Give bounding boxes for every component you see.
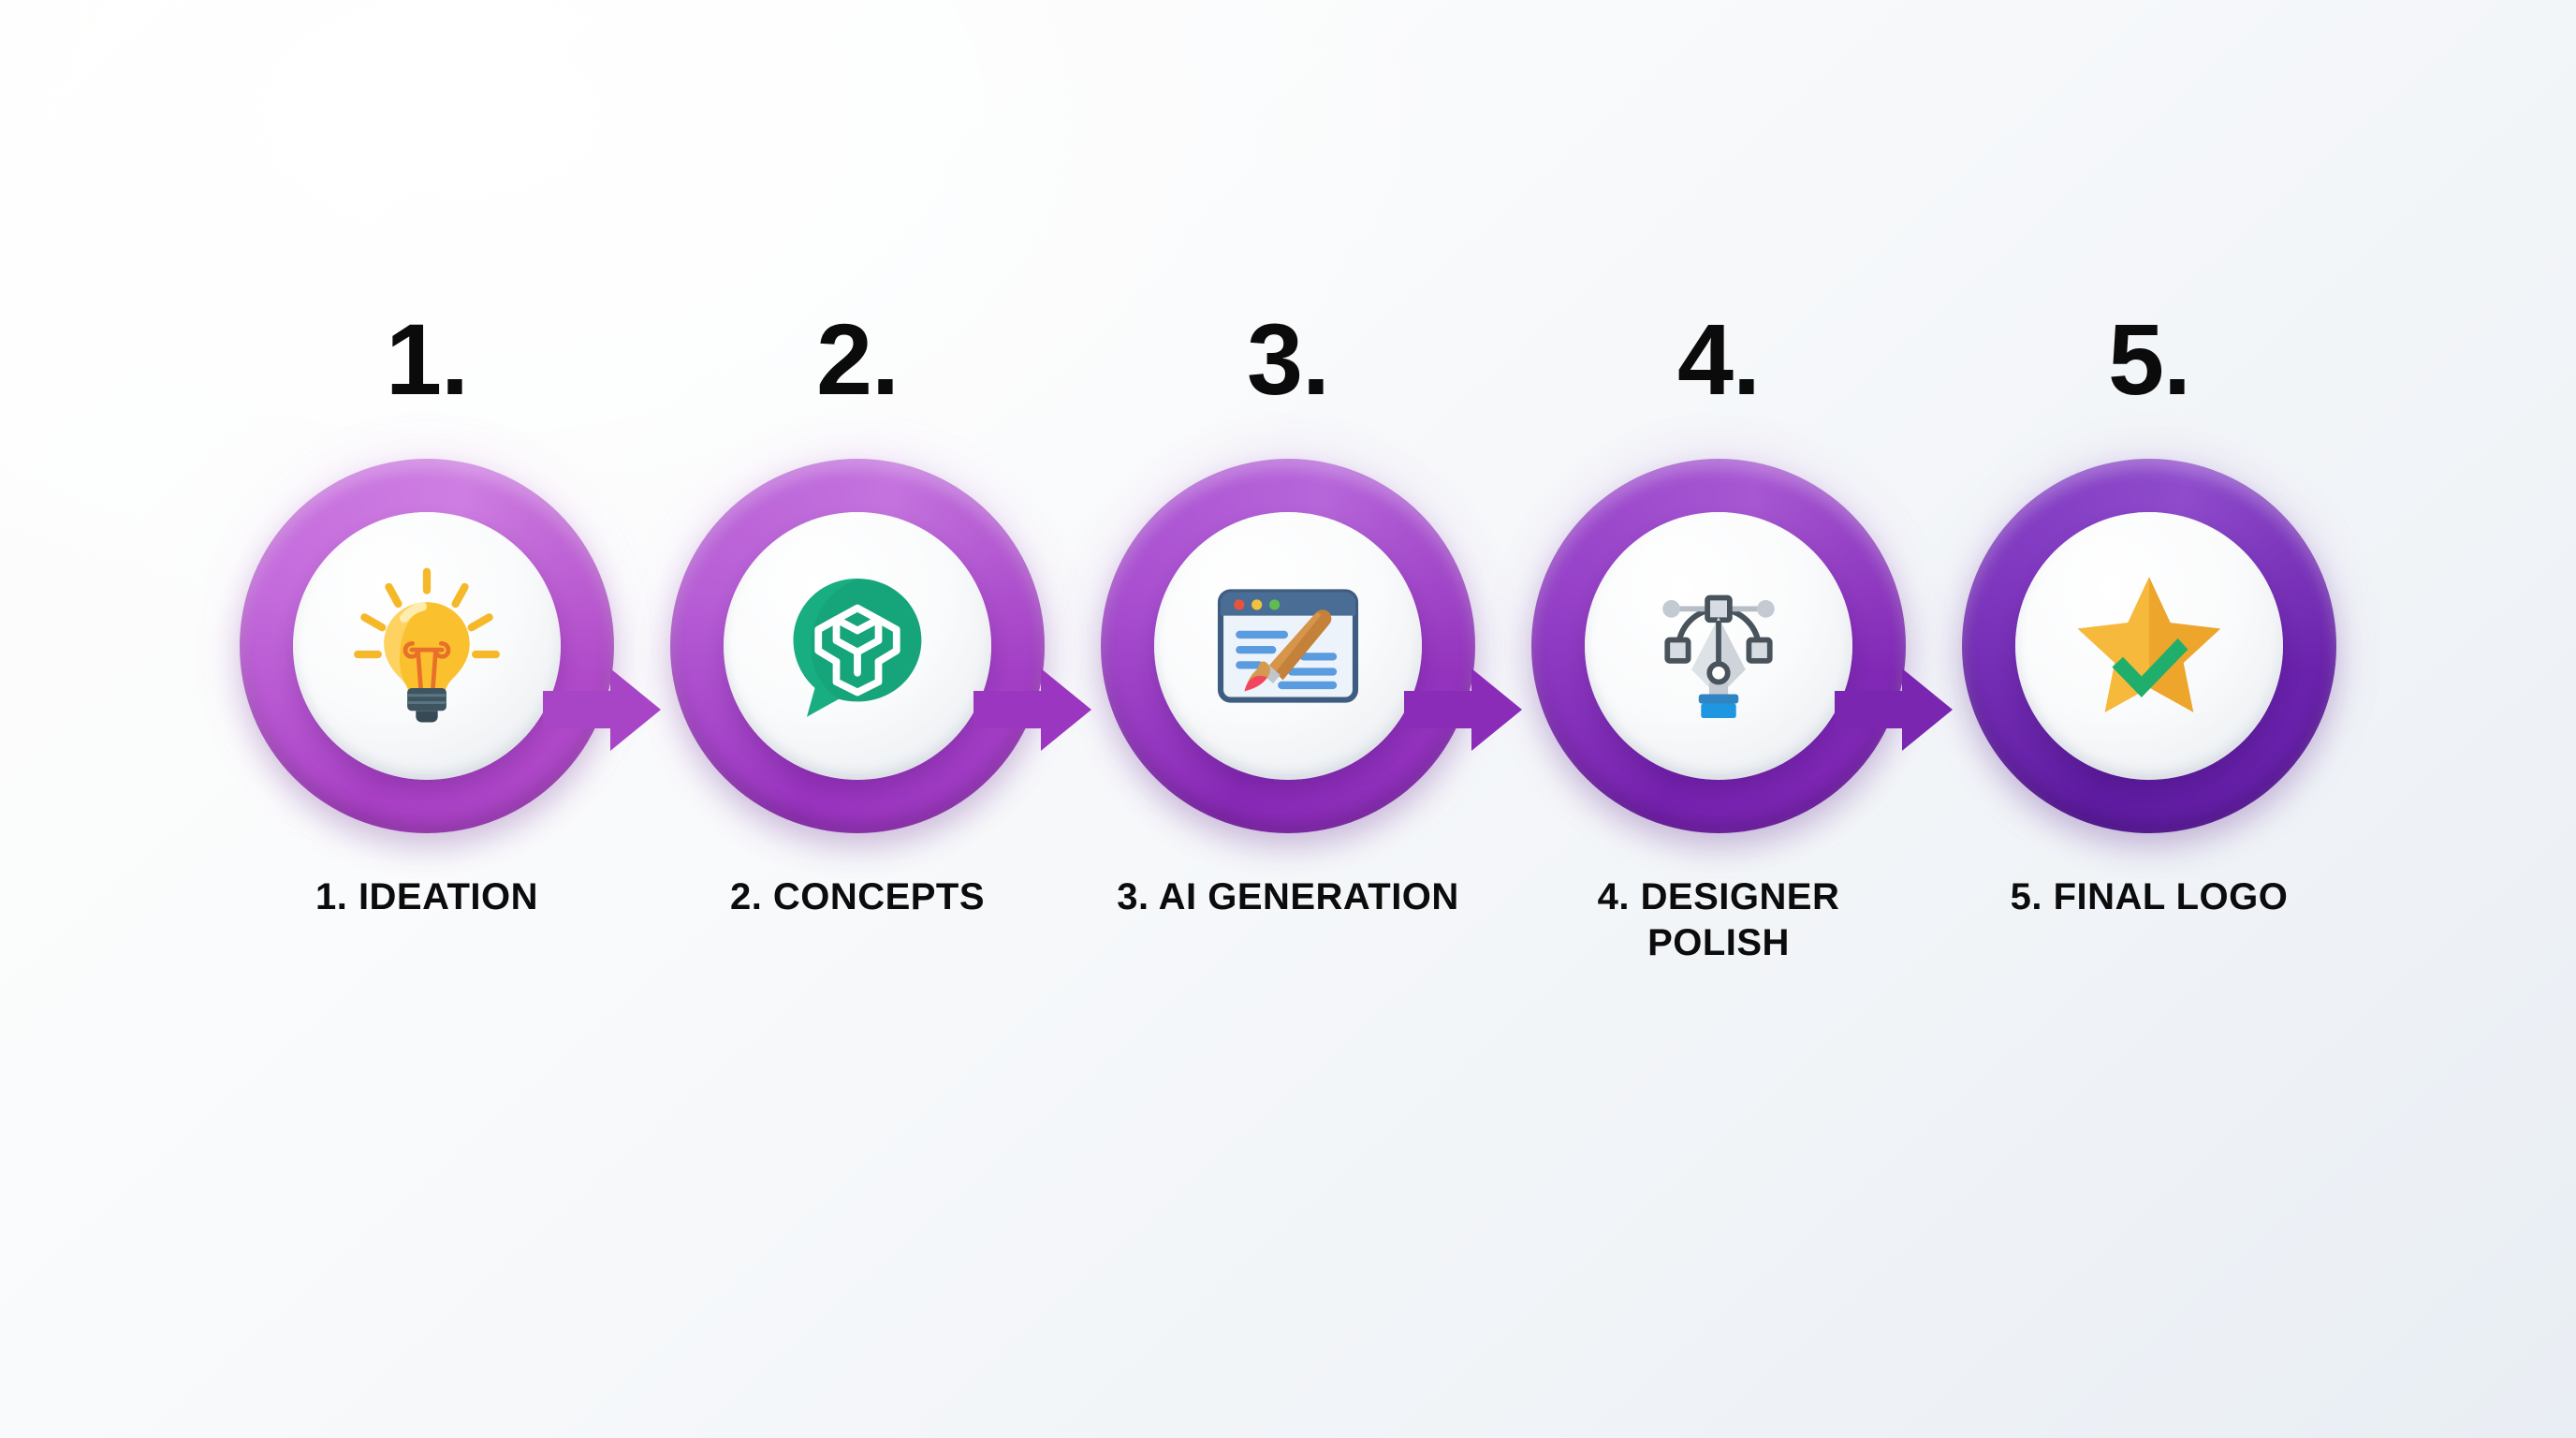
icon-disc-5 [2015, 512, 2283, 780]
icon-disc-1 [293, 512, 561, 780]
icon-disc-4 [1585, 512, 1852, 780]
step-label-3: 3. AI GENERATION [1101, 874, 1475, 920]
process-steps-row: 1. [0, 309, 2576, 966]
process-step-4[interactable]: 4. [1503, 309, 1934, 966]
step-icon-ring-1 [230, 449, 623, 843]
pen-tool-icon [1634, 562, 1803, 730]
step-number-5: 5. [2108, 309, 2190, 410]
step-number-1: 1. [386, 309, 468, 410]
step-icon-ring-5 [1953, 449, 2346, 843]
step-icon-ring-2 [661, 449, 1054, 843]
step-label-4: 4. DESIGNER POLISH [1531, 874, 1906, 966]
process-step-1[interactable]: 1. [212, 309, 642, 920]
step-number-3: 3. [1247, 309, 1329, 410]
browser-paintbrush-icon [1204, 562, 1372, 730]
infographic-canvas: 1. [0, 0, 2576, 1438]
process-step-5[interactable]: 5. 5. FINAL LOGO [1934, 309, 2364, 920]
step-label-1: 1. IDEATION [240, 874, 614, 920]
step-number-4: 4. [1677, 309, 1760, 410]
step-icon-ring-4 [1522, 449, 1915, 843]
star-check-icon [2065, 562, 2233, 730]
step-number-2: 2. [816, 309, 899, 410]
step-label-2: 2. CONCEPTS [670, 874, 1045, 920]
lightbulb-icon [343, 562, 511, 730]
step-label-5: 5. FINAL LOGO [1962, 874, 2336, 920]
icon-disc-2 [724, 512, 991, 780]
chatgpt-bubble-icon [773, 562, 942, 730]
process-step-2[interactable]: 2. [642, 309, 1073, 920]
process-step-3[interactable]: 3. [1073, 309, 1503, 920]
icon-disc-3 [1154, 512, 1422, 780]
step-icon-ring-3 [1091, 449, 1485, 843]
